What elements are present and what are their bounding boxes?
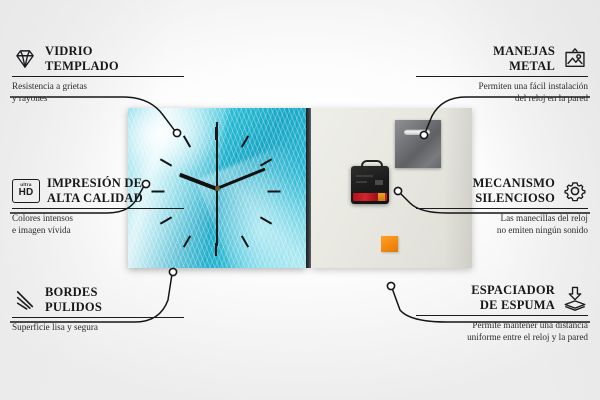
diamond-icon bbox=[12, 46, 38, 72]
feature-title: MECANISMOSILENCIOSO bbox=[473, 176, 555, 205]
feature-mecanismo-silencioso[interactable]: MECANISMOSILENCIOSO Las manecillas del r… bbox=[416, 176, 588, 236]
hd-main-label: HD bbox=[19, 188, 34, 198]
feature-rule bbox=[416, 315, 588, 316]
metal-hanger-plate bbox=[395, 120, 441, 168]
clock-second-hand bbox=[216, 122, 217, 246]
feature-title: IMPRESIÓN DEALTA CALIDAD bbox=[47, 176, 143, 205]
picture-hanger-icon bbox=[562, 46, 588, 72]
feature-title: MANEJASMETAL bbox=[493, 44, 555, 73]
clock-movement bbox=[351, 166, 389, 204]
feature-rule bbox=[12, 208, 184, 209]
feature-bordes-pulidos[interactable]: BORDESPULIDOS Superficie lisa y segura bbox=[12, 285, 184, 333]
movement-detail bbox=[356, 175, 373, 177]
ultra-hd-badge-icon: ultra HD bbox=[12, 179, 40, 203]
feature-description: Colores intensose imagen vívida bbox=[12, 212, 184, 236]
clock-tick bbox=[268, 191, 281, 193]
feature-header: BORDESPULIDOS bbox=[12, 285, 184, 314]
clock-center-hub bbox=[215, 186, 220, 191]
feature-title: BORDESPULIDOS bbox=[45, 285, 102, 314]
feature-vidrio-templado[interactable]: VIDRIOTEMPLADO Resistencia a grietasy ra… bbox=[12, 44, 184, 104]
feature-espaciador-espuma[interactable]: ESPACIADORDE ESPUMA Permite mantener una… bbox=[416, 283, 588, 343]
feature-rule bbox=[416, 76, 588, 77]
polished-edges-icon bbox=[12, 287, 38, 313]
feature-header: ESPACIADORDE ESPUMA bbox=[416, 283, 588, 312]
movement-handle bbox=[361, 160, 383, 170]
feature-description: Permiten una fácil instalacióndel reloj … bbox=[416, 80, 588, 104]
feature-rule bbox=[12, 317, 184, 318]
feature-description: Superficie lisa y segura bbox=[12, 321, 184, 333]
movement-detail bbox=[375, 180, 383, 185]
feature-header: VIDRIOTEMPLADO bbox=[12, 44, 184, 73]
foam-spacer-icon bbox=[562, 285, 588, 311]
feature-header: MECANISMOSILENCIOSO bbox=[416, 176, 588, 205]
feature-title: ESPACIADORDE ESPUMA bbox=[471, 283, 555, 312]
feature-description: Resistencia a grietasy rayones bbox=[12, 80, 184, 104]
feature-title: VIDRIOTEMPLADO bbox=[45, 44, 119, 73]
hanger-slot bbox=[404, 129, 430, 135]
feature-description: Permite mantener una distanciauniforme e… bbox=[416, 319, 588, 343]
feature-manejas-metal[interactable]: MANEJASMETAL Permiten una fácil instalac… bbox=[416, 44, 588, 104]
foam-spacer bbox=[381, 236, 398, 252]
feature-header: MANEJASMETAL bbox=[416, 44, 588, 73]
feature-rule bbox=[416, 208, 588, 209]
connector-dot-bordes bbox=[169, 268, 176, 275]
movement-detail bbox=[356, 181, 367, 183]
feature-rule bbox=[12, 76, 184, 77]
gear-icon bbox=[562, 178, 588, 204]
feature-header: ultra HD IMPRESIÓN DEALTA CALIDAD bbox=[12, 176, 184, 205]
connector-dot-espaciador bbox=[387, 282, 394, 289]
movement-chip bbox=[378, 193, 385, 201]
infographic-canvas: VIDRIOTEMPLADO Resistencia a grietasy ra… bbox=[0, 0, 600, 400]
clock-tick bbox=[241, 135, 249, 147]
feature-impresion-alta-calidad[interactable]: ultra HD IMPRESIÓN DEALTA CALIDAD Colore… bbox=[12, 176, 184, 236]
feature-description: Las manecillas del relojno emiten ningún… bbox=[416, 212, 588, 236]
